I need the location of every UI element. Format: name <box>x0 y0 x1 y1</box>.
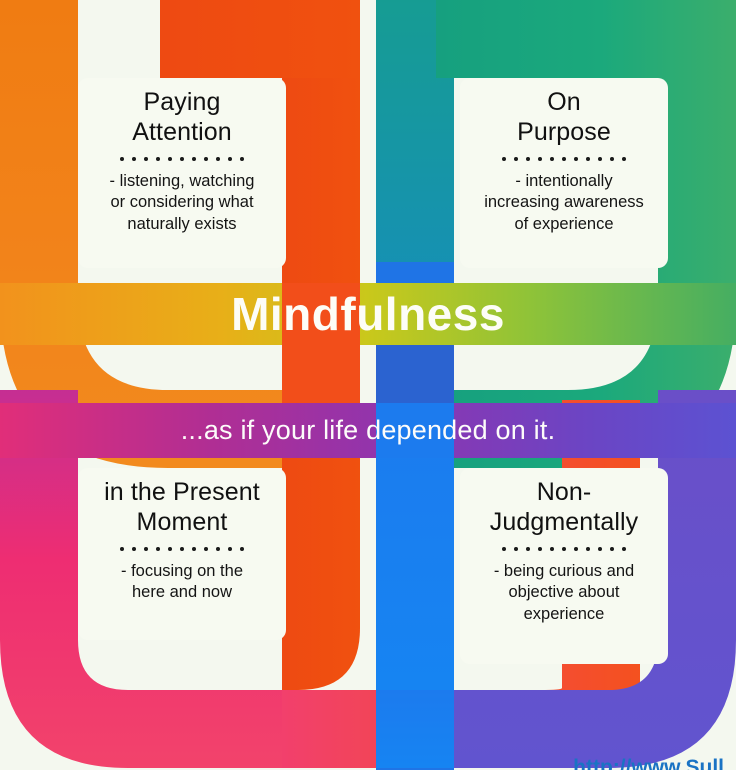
footer-left-note <box>8 758 308 770</box>
card-description: - being curious and objective about expe… <box>468 561 660 625</box>
card-title: in the Present Moment <box>86 478 278 537</box>
mindfulness-band <box>0 283 736 345</box>
ribbon-teal-above-mindfulness <box>376 262 454 283</box>
ribbon-orange-between-bands <box>282 345 360 403</box>
card-title: Paying Attention <box>86 88 278 147</box>
dotted-divider <box>468 546 660 552</box>
ribbon-blue-below-mindfulness <box>376 345 454 403</box>
dotted-divider <box>86 156 278 162</box>
ribbon-orange-over-mindfulness <box>282 283 360 345</box>
card-title: Non- Judgmentally <box>468 478 660 537</box>
card-description: - intentionally increasing awareness of … <box>468 171 660 235</box>
infographic-canvas: Paying Attention - listening, watching o… <box>0 0 736 770</box>
dotted-divider <box>468 156 660 162</box>
quadrant-card-non-judgmentally: Non- Judgmentally - being curious and ob… <box>460 468 668 664</box>
tagline-band <box>0 403 736 458</box>
card-description: - focusing on the here and now <box>86 561 278 604</box>
dotted-divider <box>86 546 278 552</box>
card-description: - listening, watching or considering wha… <box>86 171 278 235</box>
ribbon-blue-over-tagline <box>376 403 454 458</box>
footer-source-link[interactable]: http://www.Sull <box>573 757 724 770</box>
quadrant-card-paying-attention: Paying Attention - listening, watching o… <box>78 78 286 268</box>
quadrant-card-in-the-present-moment: in the Present Moment - focusing on the … <box>78 468 286 640</box>
quadrant-card-on-purpose: On Purpose - intentionally increasing aw… <box>460 78 668 268</box>
card-title: On Purpose <box>468 88 660 147</box>
